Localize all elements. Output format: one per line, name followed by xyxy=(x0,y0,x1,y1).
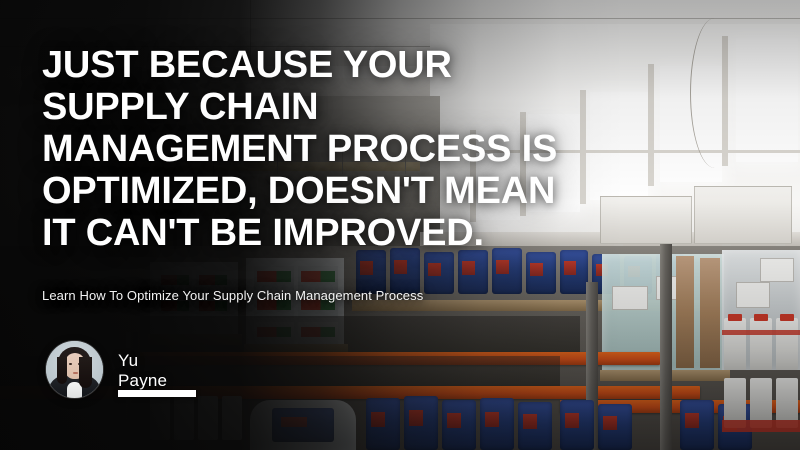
headline-line-5: IT CAN'T BE IMPROVED. xyxy=(42,212,602,254)
headline: JUST BECAUSE YOUR SUPPLY CHAIN MANAGEMEN… xyxy=(42,44,602,254)
headline-line-4: OPTIMIZED, DOESN'T MEAN xyxy=(42,170,602,212)
headline-line-2: SUPPLY CHAIN xyxy=(42,86,602,128)
avatar-hair-strand xyxy=(57,357,67,384)
headline-line-3: MANAGEMENT PROCESS IS xyxy=(42,128,602,170)
subtitle: Learn How To Optimize Your Supply Chain … xyxy=(42,288,423,303)
quote-banner: JUST BECAUSE YOUR SUPPLY CHAIN MANAGEMEN… xyxy=(0,0,800,450)
avatar-eye xyxy=(69,363,72,365)
avatar-hair-strand xyxy=(79,357,92,388)
avatar xyxy=(46,341,103,398)
headline-line-1: JUST BECAUSE YOUR xyxy=(42,44,602,86)
banner-content: JUST BECAUSE YOUR SUPPLY CHAIN MANAGEMEN… xyxy=(0,0,800,450)
author-name: Yu Payne xyxy=(118,351,167,391)
avatar-mouth xyxy=(73,372,78,374)
author-underline-rule xyxy=(118,390,196,397)
